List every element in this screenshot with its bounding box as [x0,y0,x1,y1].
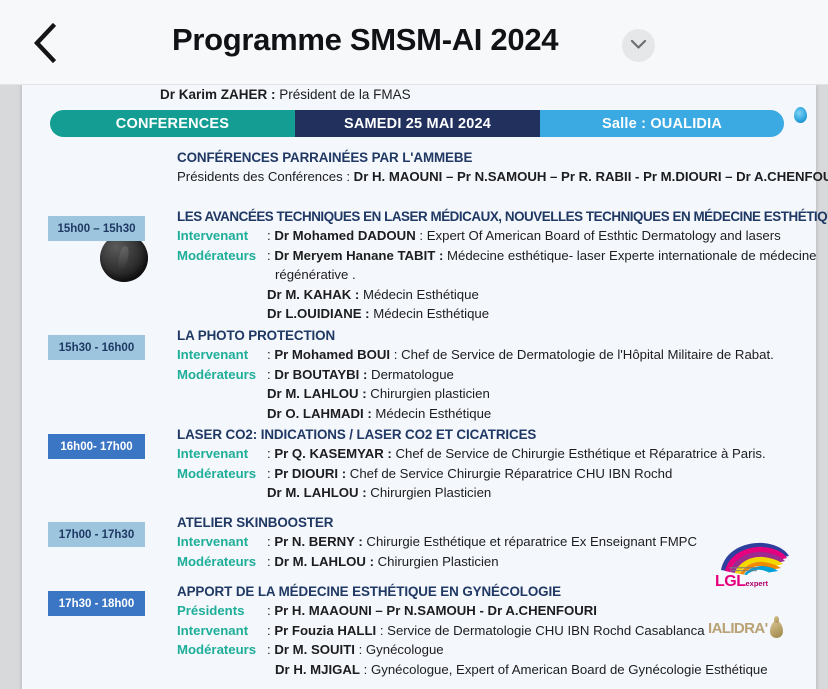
program-row-detail: Chirurgie Esthétique et réparatrice Ex E… [363,534,697,549]
program-row-names: Dr BOUTAYBI : [274,367,367,382]
section-header-date: SAMEDI 25 MAI 2024 [295,110,540,137]
previous-entry-line: Dr Karim ZAHER : Président de la FMAS [160,87,411,102]
program-row-names: Pr N. BERNY : [274,534,362,549]
program-row-detail: Chef de Service de Chirurgie Esthétique … [392,446,766,461]
program-row-detail: : Service de Dermatologie CHU IBN Rochd … [376,623,704,638]
program-row-detail: Médecin Esthétique [370,306,490,321]
program-row-names: Dr M. LAHLOU : [274,554,374,569]
program-row-detail: Chirurgien Plasticien [374,554,499,569]
program-row-label: Modérateurs [177,552,267,572]
program-row: Modérateurs: Dr BOUTAYBI : Dermatologue [177,365,797,385]
section-header-bar: CONFERENCES SAMEDI 25 MAI 2024 Salle : O… [50,110,784,137]
program-row-detail: Chef de Service Chirurgie Réparatrice CH… [346,466,672,481]
time-badge[interactable]: 17h00 - 17h30 [48,522,145,547]
document-page: Dr Karim ZAHER : Président de la FMAS CO… [22,85,816,689]
program-row: Présidents: Pr H. MAAOUNI – Pr N.SAMOUH … [177,601,797,621]
program-row-names: Pr Fouzia HALLI [274,623,376,638]
program-row-names: Dr M. KAHAK : [267,287,359,302]
program-row-label: Intervenant [177,621,267,641]
program-row-names: Pr DIOURI : [274,466,346,481]
program-row-label: Présidents [177,601,267,621]
previous-entry-role: Président de la FMAS [276,87,411,102]
back-button[interactable] [18,16,72,70]
program-row: Dr L.OUIDIANE : Médecin Esthétique [177,304,797,324]
program-row: Intervenant: Pr Fouzia HALLI : Service d… [177,621,797,641]
expand-collapse-button[interactable] [622,29,655,62]
program-block-title: CONFÉRENCES PARRAINÉES PAR L'AMMEBE [177,148,797,167]
program-row: Intervenant: Pr N. BERNY : Chirurgie Est… [177,532,797,552]
program-row-label: Intervenant [177,226,267,246]
program-block-title: APPORT DE LA MÉDECINE ESTHÉTIQUE EN GYNÉ… [177,582,797,601]
app-bar: Programme SMSM-AI 2024 [0,0,828,85]
program-row: Modérateurs: Dr M. SOUITI : Gynécologue [177,640,797,660]
program-row-names: Dr M. LAHLOU : [267,485,367,500]
time-badge[interactable]: 16h00- 17h00 [48,434,145,459]
program-row: Intervenant: Pr Q. KASEMYAR : Chef de Se… [177,444,797,464]
program-row: Dr M. KAHAK : Médecin Esthétique [177,285,797,305]
page-title: Programme SMSM-AI 2024 [172,22,558,58]
chevron-down-icon [630,37,647,55]
program-row: Intervenant: Dr Mohamed DADOUN : Expert … [177,226,797,246]
program-row-names: Dr M. SOUITI [274,642,355,657]
program-row-label: Intervenant [177,532,267,552]
ammebe-logo [100,234,148,282]
program-row-label: Intervenant [177,444,267,464]
program-row-label: Modérateurs [177,246,267,266]
program-block-title: LES AVANCÉES TECHNIQUES EN LASER MÉDICAU… [177,207,797,226]
program-row-names: Dr Meryem Hanane TABIT : [274,248,443,263]
program-row-names: Dr O. LAHMADI : [267,406,372,421]
program-row-detail: : Chef de Service de Dermatologie de l'H… [390,347,774,362]
program-row-names: Pr Q. KASEMYAR : [274,446,392,461]
program-row-detail: : Gynécologue, Expert of American Board … [360,662,768,677]
section-header-category: CONFERENCES [50,110,295,137]
time-badge[interactable]: 15h00 – 15h30 [48,216,145,241]
program-block-title: ATELIER SKINBOOSTER [177,513,797,532]
program-row: Présidents des Conférences : Dr H. MAOUN… [177,167,797,187]
program-row: Modérateurs: Pr DIOURI : Chef de Service… [177,464,797,484]
program-row-names: Dr M. LAHLOU : [267,386,367,401]
document-viewport[interactable]: Dr Karim ZAHER : Président de la FMAS CO… [0,85,828,689]
program-row-detail: : Gynécologue [355,642,444,657]
program-row: Dr O. LAHMADI : Médecin Esthétique [177,404,797,424]
program-row-detail: Chirurgien plasticien [367,386,490,401]
program-row-names: Dr H. MJIGAL [275,662,360,677]
time-badge[interactable]: 17h30 - 18h00 [48,591,145,616]
program-row-detail: Dermatologue [367,367,454,382]
program-row-names: Dr H. MAOUNI – Pr N.SAMOUH – Pr R. RABII… [354,169,828,184]
chevron-left-icon [32,23,58,63]
program-row-detail: Médecine esthétique- laser Experte inter… [443,248,816,263]
program-row: Intervenant: Pr Mohamed BOUI : Chef de S… [177,345,797,365]
time-badge[interactable]: 15h30 - 16h00 [48,335,145,360]
program-row-prefix: Présidents des Conférences : [177,169,354,184]
program-row-label: Intervenant [177,345,267,365]
program-row-names: Dr Mohamed DADOUN [274,228,415,243]
program-row-names: Pr Mohamed BOUI [274,347,390,362]
program-row-names: Dr L.OUIDIANE : [267,306,370,321]
previous-entry-name: Dr Karim ZAHER : [160,87,276,102]
program-row: régénérative . [177,265,797,285]
program-row: Modérateurs: Dr M. LAHLOU : Chirurgien P… [177,552,797,572]
program-row-detail: : Expert Of American Board of Esthtic De… [416,228,781,243]
program-block-title: LASER CO2: INDICATIONS / LASER CO2 ET CI… [177,425,797,444]
program-row-names: Pr H. MAAOUNI – Pr N.SAMOUH - Dr A.CHENF… [274,603,597,618]
program-row-label: Modérateurs [177,464,267,484]
section-header-room: Salle : OUALIDIA [540,110,784,137]
program-block-title: LA PHOTO PROTECTION [177,326,797,345]
program-row-detail: régénérative . [275,267,356,282]
program-row-label: Modérateurs [177,365,267,385]
program-row-label: Modérateurs [177,640,267,660]
program-row-detail: Médecin Esthétique [372,406,492,421]
program-row: Modérateurs: Dr Meryem Hanane TABIT : Mé… [177,246,797,266]
program-row: Dr H. MJIGAL : Gynécologue, Expert of Am… [177,660,797,680]
program-row-detail: Chirurgien Plasticien [367,485,492,500]
program-row-detail: Médecin Esthétique [359,287,479,302]
program-row: Dr M. LAHLOU : Chirurgien plasticien [177,384,797,404]
decorative-blue-dot [794,107,807,123]
program-row: Dr M. LAHLOU : Chirurgien Plasticien [177,483,797,503]
